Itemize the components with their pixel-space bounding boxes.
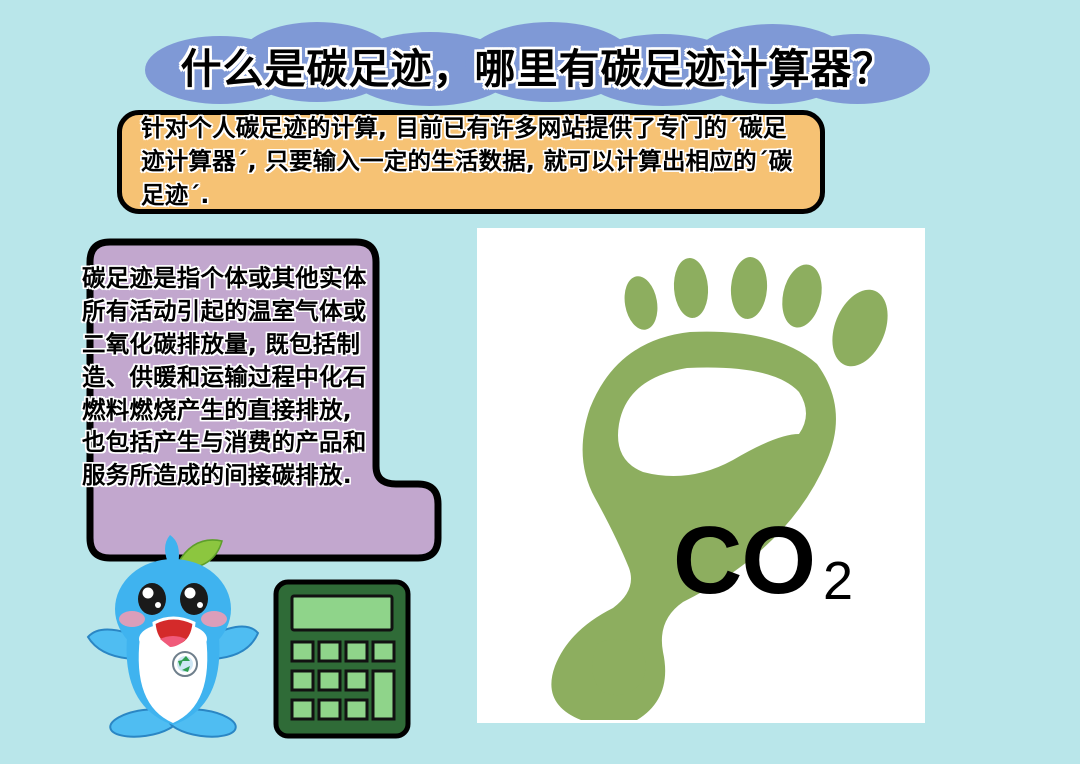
- page-title: 什么是碳足迹，哪里有碳足迹计算器？: [145, 22, 930, 108]
- eye-left: [138, 583, 166, 615]
- calculator-key-tall: [373, 671, 394, 719]
- co2-label: CO2: [673, 513, 853, 609]
- title-banner: 什么是碳足迹，哪里有碳足迹计算器？: [145, 22, 930, 108]
- recycle-badge: [173, 652, 197, 676]
- calculator-key: [346, 642, 367, 661]
- calculator-key: [346, 700, 367, 719]
- co2-subscript: 2: [823, 551, 853, 611]
- mascot-dolphin: [82, 527, 264, 747]
- infographic-canvas: 什么是碳足迹，哪里有碳足迹计算器？ 针对个人碳足迹的计算, 目前已有许多网站提供…: [0, 0, 1080, 764]
- calculator-key: [319, 642, 340, 661]
- intro-callout-box: 针对个人碳足迹的计算, 目前已有许多网站提供了专门的´碳足迹计算器´, 只要输入…: [117, 110, 825, 214]
- calculator-key: [292, 642, 313, 661]
- co2-text: CO: [673, 507, 815, 614]
- calculator-key: [292, 671, 313, 690]
- calculator-icon: [272, 578, 412, 740]
- calculator-display: [292, 596, 392, 630]
- calculator-key: [292, 700, 313, 719]
- calculator-key: [319, 671, 340, 690]
- illustration-panel: CO2: [477, 228, 925, 723]
- calculator-key: [319, 700, 340, 719]
- calculator-key: [346, 671, 367, 690]
- eye-right: [180, 583, 208, 615]
- intro-text: 针对个人碳足迹的计算, 目前已有许多网站提供了专门的´碳足迹计算器´, 只要输入…: [122, 112, 820, 212]
- calculator-key: [373, 642, 394, 661]
- carbon-footprint-icon: [477, 228, 925, 723]
- definition-text: 碳足迹是指个体或其他实体所有活动引起的温室气体或二氧化碳排放量, 既包括制造、供…: [82, 262, 368, 492]
